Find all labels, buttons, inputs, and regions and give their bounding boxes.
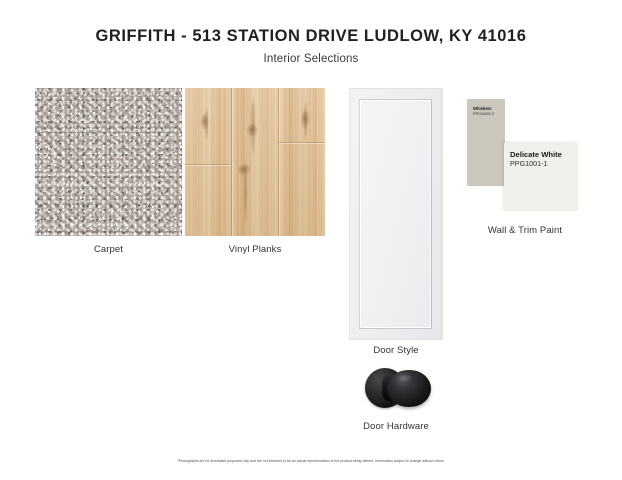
knob-highlight: [396, 374, 412, 382]
paint-chip-delicate-white: Delicate White PPG1001-1: [504, 143, 578, 211]
door-style-label: Door Style: [330, 345, 462, 356]
page-title: GRIFFITH - 513 STATION DRIVE LUDLOW, KY …: [0, 27, 622, 45]
footer-disclaimer: *Photographs are for illustrative purpos…: [0, 459, 622, 463]
board-header: GRIFFITH - 513 STATION DRIVE LUDLOW, KY …: [0, 0, 622, 65]
plank-end-joint: [185, 164, 231, 165]
wood-grain-streak: [251, 96, 255, 158]
flooring-captions: Carpet Vinyl Planks: [35, 244, 325, 255]
vinyl-plank-swatch-image: [185, 88, 325, 236]
door-hardware-caption: Door Hardware: [330, 421, 462, 432]
paint-chip-name: Delicate White: [510, 150, 572, 159]
door-slab: [349, 88, 443, 340]
carpet-label: Carpet: [35, 244, 182, 255]
door-style-caption: Door Style: [330, 345, 462, 356]
wood-grain-streak: [304, 100, 307, 144]
carpet-swatch-image: [35, 88, 182, 236]
wood-grain-streak: [205, 106, 208, 142]
paint-swatch-group: Whiskers PPG1025-3 Delicate White PPG100…: [455, 88, 595, 218]
page-subtitle: Interior Selections: [0, 53, 622, 65]
wall-trim-paint-label: Wall & Trim Paint: [455, 225, 595, 236]
paint-chip-code: PPG1001-1: [510, 159, 572, 168]
plank-end-joint: [279, 142, 325, 143]
plank-seam: [231, 88, 232, 236]
plank-seam: [278, 88, 279, 236]
paint-chip-whiskers: Whiskers PPG1025-3: [467, 99, 505, 186]
wood-grain-streak: [244, 158, 247, 228]
door-hardware-swatch-image: [360, 362, 438, 414]
paint-caption: Wall & Trim Paint: [455, 225, 595, 236]
carpet-texture-fiber: [35, 88, 182, 236]
door-hardware-label: Door Hardware: [330, 421, 462, 432]
door-recessed-panel: [359, 99, 432, 329]
paint-chip-code: PPG1025-3: [473, 111, 499, 116]
door-style-swatch-image: [349, 88, 443, 340]
flooring-swatch-row: [35, 88, 325, 236]
vinyl-planks-label: Vinyl Planks: [185, 244, 325, 255]
